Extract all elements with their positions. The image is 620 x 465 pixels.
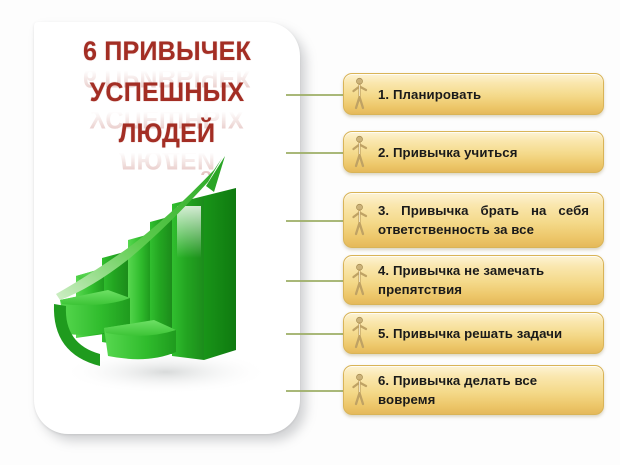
bar-6: [172, 188, 236, 360]
habit-item-6-label: 6. Привычка делать все вовремя: [378, 371, 603, 409]
habit-item-1[interactable]: 1. Планировать: [343, 73, 604, 115]
habit-item-2[interactable]: 2. Привычка учиться: [343, 131, 604, 173]
connector-line-3: [286, 220, 344, 222]
person-figure-icon: [344, 193, 378, 247]
habit-item-4-line-2: препятствия: [378, 280, 589, 299]
habit-item-4-label: 4. Привычка не замечать препятствия: [378, 261, 603, 299]
connector-line-2: [286, 152, 344, 154]
person-figure-icon: [344, 366, 378, 414]
person-figure-icon: [344, 313, 378, 353]
habit-item-3-line-1: 3. Привычка брать на себя: [378, 201, 589, 220]
connector-line-5: [286, 333, 344, 335]
habit-item-6-line-2: вовремя: [378, 390, 589, 409]
habit-item-4-line-1: 4. Привычка не замечать: [378, 261, 589, 280]
person-figure-icon: [344, 256, 378, 304]
habit-item-4[interactable]: 4. Привычка не замечать препятствия: [343, 255, 604, 305]
habit-item-3-line-2: ответственность за все: [378, 220, 589, 239]
habit-item-5[interactable]: 5. Привычка решать задачи: [343, 312, 604, 354]
person-figure-icon: [344, 132, 378, 172]
person-figure-icon: [344, 74, 378, 114]
infographic-canvas: 6 ПРИВЫЧЕК 6 ПРИВЫЧЕК УСПЕШНЫХ УСПЕШНЫХ …: [0, 0, 620, 465]
habit-item-1-label: 1. Планировать: [378, 85, 603, 104]
habit-item-3[interactable]: 3. Привычка брать на себя ответственност…: [343, 192, 604, 248]
habit-item-2-label: 2. Привычка учиться: [378, 143, 603, 162]
habit-item-5-label: 5. Привычка решать задачи: [378, 324, 603, 343]
connector-line-6: [286, 390, 344, 392]
habit-item-6[interactable]: 6. Привычка делать все вовремя: [343, 365, 604, 415]
habit-item-3-label: 3. Привычка брать на себя ответственност…: [378, 201, 603, 239]
connector-line-1: [286, 94, 344, 96]
connector-line-4: [286, 280, 344, 282]
habit-item-6-line-1: 6. Привычка делать все: [378, 371, 589, 390]
growth-chart-illustration: [46, 148, 284, 398]
